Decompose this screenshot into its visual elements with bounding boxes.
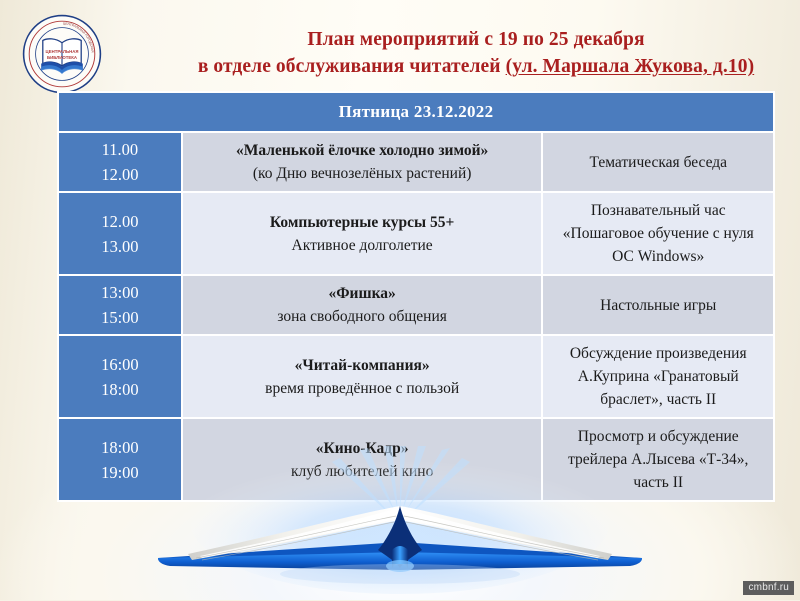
time-end: 15:00 bbox=[59, 305, 181, 330]
time-start: 16:00 bbox=[59, 352, 181, 377]
time-end: 12.00 bbox=[59, 162, 181, 187]
event-cell: «Фишка» зона свободного общения bbox=[183, 276, 542, 334]
schedule-date-header: Пятница 23.12.2022 bbox=[59, 93, 773, 131]
time-end: 13.00 bbox=[59, 234, 181, 259]
schedule-table-head: Пятница 23.12.2022 bbox=[59, 93, 773, 131]
open-book-illustration bbox=[110, 446, 690, 596]
time-cell: 11.00 12.00 bbox=[59, 133, 181, 191]
event-subtitle: Активное долголетие bbox=[191, 234, 534, 257]
event-subtitle: время проведённое с пользой bbox=[191, 377, 534, 400]
title-line-2: в отделе обслуживания читателей (ул. Мар… bbox=[160, 53, 792, 80]
time-cell: 12.00 13.00 bbox=[59, 193, 181, 274]
table-row: 11.00 12.00 «Маленькой ёлочке холодно зи… bbox=[59, 133, 773, 191]
event-subtitle: (ко Дню вечнозелёных растений) bbox=[191, 162, 534, 185]
time-cell: 16:00 18:00 bbox=[59, 336, 181, 417]
svg-text:БИБЛИОТЕКА: БИБЛИОТЕКА bbox=[47, 55, 77, 60]
time-cell: 13:00 15:00 bbox=[59, 276, 181, 334]
description-cell: Тематическая беседа bbox=[543, 133, 773, 191]
title-address-link[interactable]: (ул. Маршала Жукова, д.10) bbox=[506, 56, 755, 77]
schedule-table: Пятница 23.12.2022 11.00 12.00 «Маленько… bbox=[57, 91, 775, 502]
table-row: 12.00 13.00 Компьютерные курсы 55+ Актив… bbox=[59, 193, 773, 274]
event-title: «Читай-компания» bbox=[191, 354, 534, 377]
open-book-icon bbox=[110, 446, 690, 596]
library-emblem-icon: ЦЕНТРАЛЬНАЯ БИБЛИОТЕКА ЦЕНТРАЛЬНАЯ ГОРОД… bbox=[22, 14, 102, 94]
svg-text:ЦЕНТРАЛЬНАЯ: ЦЕНТРАЛЬНАЯ bbox=[46, 49, 79, 54]
description-cell: Обсуждение произведения А.Куприна «Грана… bbox=[543, 336, 773, 417]
site-watermark: cmbnf.ru bbox=[743, 581, 794, 595]
event-cell: «Читай-компания» время проведённое с пол… bbox=[183, 336, 542, 417]
event-cell: Компьютерные курсы 55+ Активное долголет… bbox=[183, 193, 542, 274]
title-line-1: План мероприятий с 19 по 25 декабря bbox=[160, 26, 792, 53]
event-title: Компьютерные курсы 55+ bbox=[191, 211, 534, 234]
page-title: План мероприятий с 19 по 25 декабря в от… bbox=[160, 26, 792, 80]
event-cell: «Маленькой ёлочке холодно зимой» (ко Дню… bbox=[183, 133, 542, 191]
schedule-table-body: 11.00 12.00 «Маленькой ёлочке холодно зи… bbox=[59, 133, 773, 500]
table-header-row: Пятница 23.12.2022 bbox=[59, 93, 773, 131]
time-start: 11.00 bbox=[59, 137, 181, 162]
event-title: «Фишка» bbox=[191, 282, 534, 305]
time-start: 13:00 bbox=[59, 280, 181, 305]
time-start: 12.00 bbox=[59, 209, 181, 234]
event-subtitle: зона свободного общения bbox=[191, 305, 534, 328]
table-row: 16:00 18:00 «Читай-компания» время прове… bbox=[59, 336, 773, 417]
time-end: 18:00 bbox=[59, 377, 181, 402]
table-row: 13:00 15:00 «Фишка» зона свободного обще… bbox=[59, 276, 773, 334]
description-cell: Настольные игры bbox=[543, 276, 773, 334]
title-line-2-prefix: в отделе обслуживания читателей bbox=[198, 56, 506, 77]
library-emblem-logo: ЦЕНТРАЛЬНАЯ БИБЛИОТЕКА ЦЕНТРАЛЬНАЯ ГОРОД… bbox=[22, 14, 102, 94]
event-title: «Маленькой ёлочке холодно зимой» bbox=[191, 139, 534, 162]
description-cell: Познавательный час «Пошаговое обучение с… bbox=[543, 193, 773, 274]
